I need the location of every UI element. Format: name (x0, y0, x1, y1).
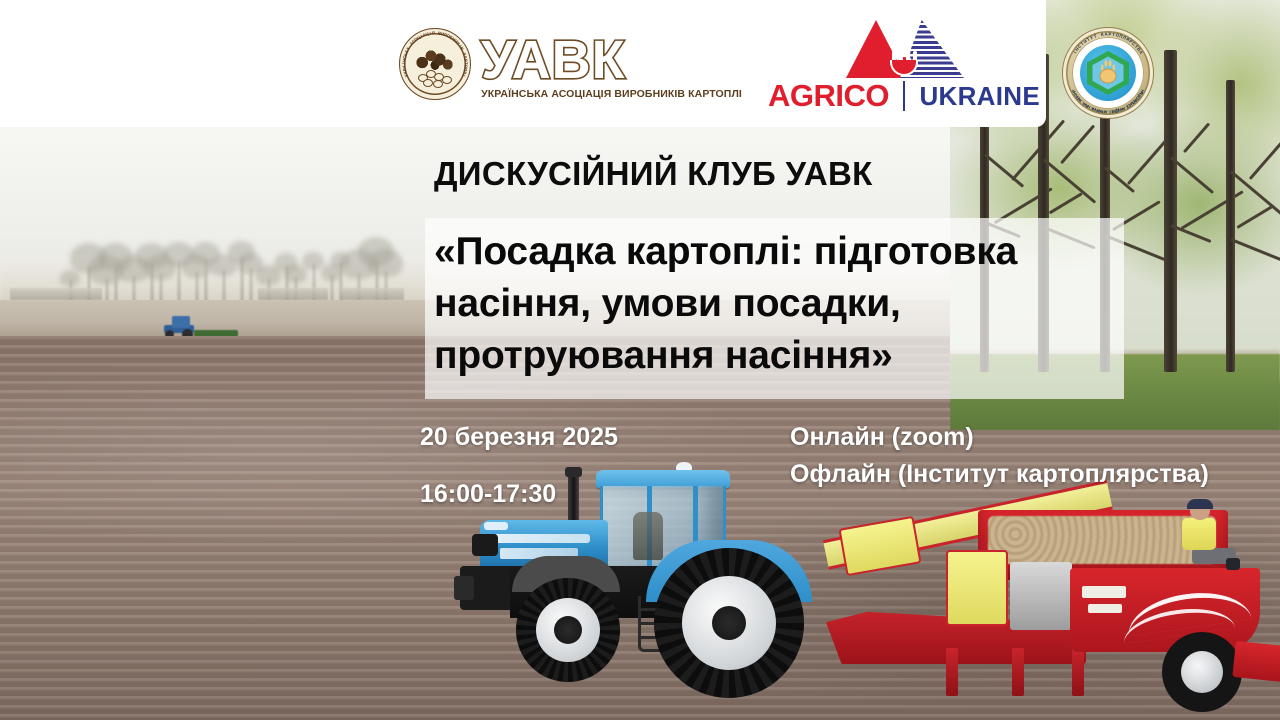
farm-building (340, 288, 404, 300)
distant-tractor-cab (172, 316, 190, 328)
tractor-grille (472, 534, 498, 556)
uavk-subtitle: УКРАЇНСЬКА АСОЦІАЦІЯ ВИРОБНИКІВ КАРТОПЛІ (481, 89, 742, 100)
page-title-line: протруювання насіння» (434, 330, 1124, 382)
event-format-online: Онлайн (zoom) (790, 425, 1209, 450)
tree-crown (368, 249, 403, 277)
uavk-mark-text: УАВК (481, 33, 742, 87)
logo-band: УКРАЇНСЬКА АСОЦІАЦІЯ ВИРОБНИКІВ КАРТОПЛІ… (0, 0, 1046, 127)
farm-building (258, 288, 328, 300)
planter-grey-module (1010, 562, 1072, 630)
tractor-rear-wheel (654, 548, 804, 698)
tree-crown (60, 270, 80, 286)
planter-tank-left (838, 516, 921, 576)
agrico-country-text: UKRAINE (919, 83, 1040, 109)
event-format-block: Онлайн (zoom) Офлайн (Інститут картопляр… (790, 425, 1209, 487)
tree-trunk (1164, 50, 1177, 372)
tree-trunk (205, 259, 207, 306)
tractor-hood-stripe (494, 534, 590, 543)
event-time: 16:00-17:30 (420, 482, 618, 507)
planter-tail-section (1232, 641, 1280, 683)
institute-seal-logo: ІНСТИТУТ КАРТОПЛЯРСТВАНАЦІОНАЛЬНОЇ АКАДЕ… (1063, 28, 1153, 118)
planter-tank-mid (946, 550, 1008, 626)
page-title-line: насіння, умови посадки, (434, 278, 1124, 330)
tree-crown (302, 252, 324, 270)
tractor-front-wheel (516, 578, 620, 682)
hand-holding-potato-icon (884, 36, 924, 76)
seal-tuber-icon (1101, 70, 1116, 83)
agrico-name-text: AGRICO (768, 80, 889, 111)
agrico-logo: AGRICO UKRAINE (768, 16, 1040, 111)
tree-crown (284, 265, 307, 283)
event-format-offline: Офлайн (Інститут картоплярства) (790, 462, 1209, 487)
poster-canvas: УКРАЇНСЬКА АСОЦІАЦІЯ ВИРОБНИКІВ КАРТОПЛІ… (0, 0, 1280, 720)
event-date: 20 березня 2025 (420, 425, 618, 450)
seal-blue-disc (1080, 45, 1136, 101)
potato-planter (826, 498, 1280, 720)
potato-tubers-icon (418, 70, 452, 86)
planter-badge-plate (1082, 586, 1126, 598)
agrico-wordmark-row: AGRICO UKRAINE (768, 80, 1040, 111)
distant-tractor-icon (160, 316, 218, 338)
planter-wheel (1162, 632, 1242, 712)
uavk-logo: УКРАЇНСЬКА АСОЦІАЦІЯ ВИРОБНИКІВ КАРТОПЛІ… (399, 28, 742, 100)
palm-icon (890, 60, 918, 76)
hi-vis-vest (1182, 518, 1216, 550)
uavk-seal-icon: УКРАЇНСЬКА АСОЦІАЦІЯ ВИРОБНИКІВ КАРТОПЛІ (399, 28, 471, 100)
uavk-wordmark: УАВК УКРАЇНСЬКА АСОЦІАЦІЯ ВИРОБНИКІВ КАР… (481, 33, 742, 100)
event-datetime-block: 20 березня 2025 16:00-17:30 (420, 425, 618, 507)
tractor-driver (633, 512, 663, 560)
tree-trunk (1226, 80, 1235, 372)
tractor-headlight (484, 522, 508, 530)
planter-operator (1178, 502, 1236, 594)
planter-badge-plate (1088, 604, 1122, 613)
agrico-divider (903, 81, 906, 111)
agrico-triangle-icon (842, 16, 966, 78)
farm-building (10, 288, 102, 300)
operator-cap (1187, 499, 1213, 509)
page-title-line: «Посадка картоплі: підготовка (434, 226, 1124, 278)
page-title: «Посадка картоплі: підготовканасіння, ум… (434, 226, 1124, 382)
page-kicker: ДИСКУСІЙНИЙ КЛУБ УАВК (434, 155, 873, 193)
